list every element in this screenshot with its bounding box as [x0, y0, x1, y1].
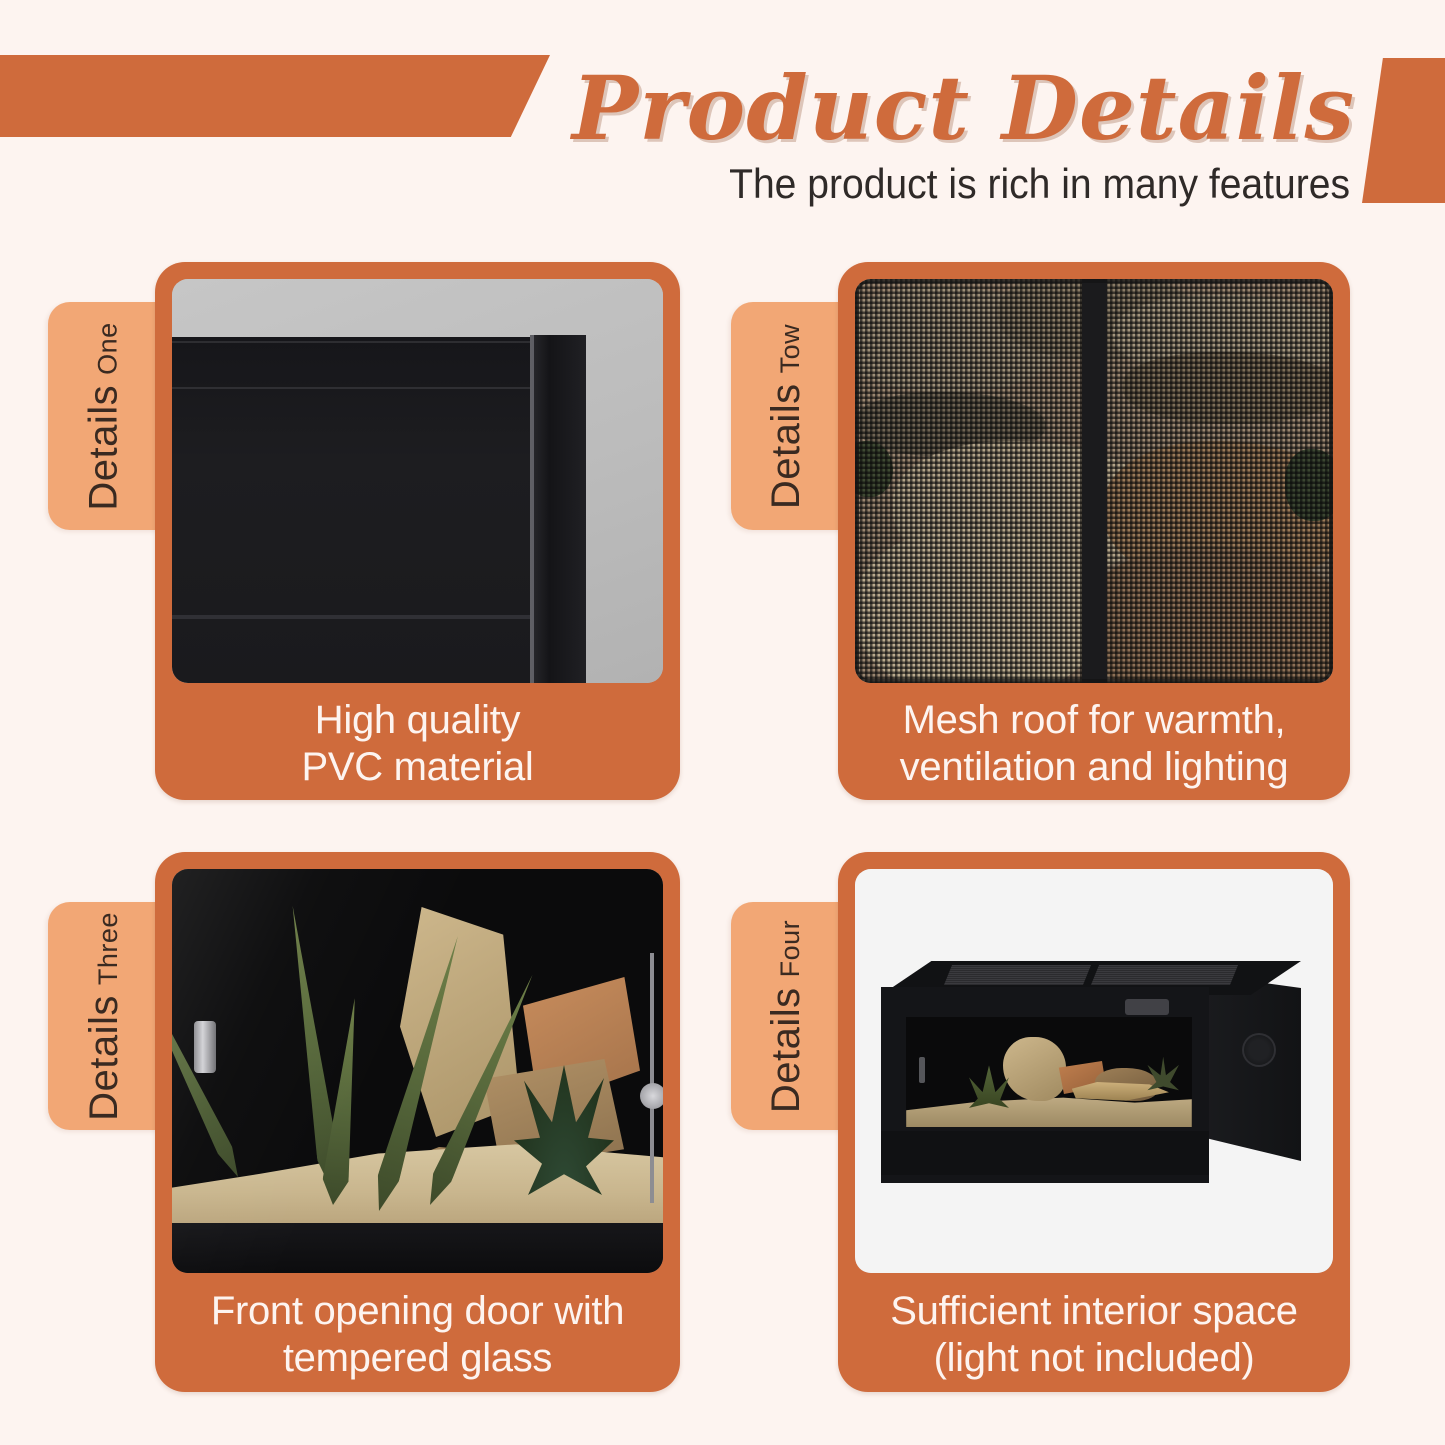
- glass-front-window: [906, 1017, 1192, 1127]
- card-three-caption: Front opening door with tempered glass: [155, 1277, 680, 1392]
- caption-line-2: PVC material: [301, 744, 533, 791]
- detail-card-three[interactable]: Front opening door with tempered glass: [155, 852, 680, 1392]
- pvc-edge-highlight: [530, 335, 534, 683]
- page-title: Product Details: [0, 56, 1355, 160]
- caption-line-1: Sufficient interior space: [890, 1288, 1298, 1335]
- tab-index: Three: [93, 912, 124, 985]
- details-tab-three[interactable]: Details Three: [48, 902, 160, 1130]
- pvc-material-photo: [172, 279, 663, 683]
- detail-card-four[interactable]: Sufficient interior space (light not inc…: [838, 852, 1350, 1392]
- pvc-corner-edge: [530, 335, 586, 683]
- tab-label-group: Details Tow: [765, 323, 810, 508]
- pvc-seam-top: [172, 341, 534, 343]
- tab-label-group: Details Four: [765, 919, 810, 1112]
- tab-index: Tow: [776, 323, 807, 373]
- mesh-panel-right: [1091, 965, 1238, 985]
- door-bottom-rail: [172, 1223, 663, 1273]
- tab-title: Details: [82, 384, 127, 510]
- full-enclosure-photo: [855, 869, 1333, 1273]
- detail-card-two[interactable]: Mesh roof for warmth, ventilation and li…: [838, 262, 1350, 800]
- caption-line-1: Mesh roof for warmth,: [903, 697, 1286, 744]
- detail-card-one[interactable]: High quality PVC material: [155, 262, 680, 800]
- card-four-caption: Sufficient interior space (light not inc…: [838, 1277, 1350, 1392]
- pvc-seam-mid: [172, 387, 534, 389]
- pvc-lower-rail: [172, 615, 534, 619]
- tab-title: Details: [765, 383, 810, 509]
- mesh-roof-photo: [855, 279, 1333, 683]
- caption-line-1: Front opening door with: [211, 1288, 624, 1335]
- details-tab-two[interactable]: Details Tow: [731, 302, 843, 530]
- tab-title: Details: [765, 987, 810, 1113]
- tab-label-group: Details One: [82, 322, 127, 510]
- mesh-frame-border: [855, 279, 1333, 683]
- door-handle[interactable]: [194, 1021, 216, 1073]
- page-header: Product Details The product is rich in m…: [0, 0, 1445, 235]
- caption-line-2: ventilation and lighting: [900, 744, 1289, 791]
- brand-logo-icon: [1125, 999, 1169, 1015]
- front-door-photo: [172, 869, 663, 1273]
- caption-line-1: High quality: [315, 697, 520, 744]
- rock-large: [1003, 1037, 1066, 1101]
- card-one-caption: High quality PVC material: [155, 687, 680, 800]
- details-tab-four[interactable]: Details Four: [731, 902, 843, 1130]
- product-white-background: [855, 869, 1333, 1273]
- probe-dial: [640, 1083, 663, 1109]
- tab-label-group: Details Three: [82, 912, 127, 1121]
- header-right-banner: [1362, 58, 1445, 203]
- caption-line-2: tempered glass: [283, 1335, 552, 1382]
- probe-rod: [650, 953, 654, 1203]
- terrarium-through-glass: [172, 869, 663, 1273]
- page-subtitle: The product is rich in many features: [95, 160, 1351, 208]
- terrarium-enclosure: [881, 961, 1301, 1191]
- side-vent-icon: [1242, 1033, 1276, 1067]
- card-two-caption: Mesh roof for warmth, ventilation and li…: [838, 687, 1350, 800]
- details-tab-one[interactable]: Details One: [48, 302, 160, 530]
- enclosure-base-rail: [881, 1131, 1209, 1175]
- tab-title: Details: [82, 995, 127, 1121]
- tab-index: One: [93, 322, 124, 375]
- tab-index: Four: [776, 919, 807, 977]
- caption-line-2: (light not included): [934, 1335, 1255, 1382]
- door-handle[interactable]: [919, 1057, 925, 1083]
- mesh-panel-left: [944, 965, 1091, 985]
